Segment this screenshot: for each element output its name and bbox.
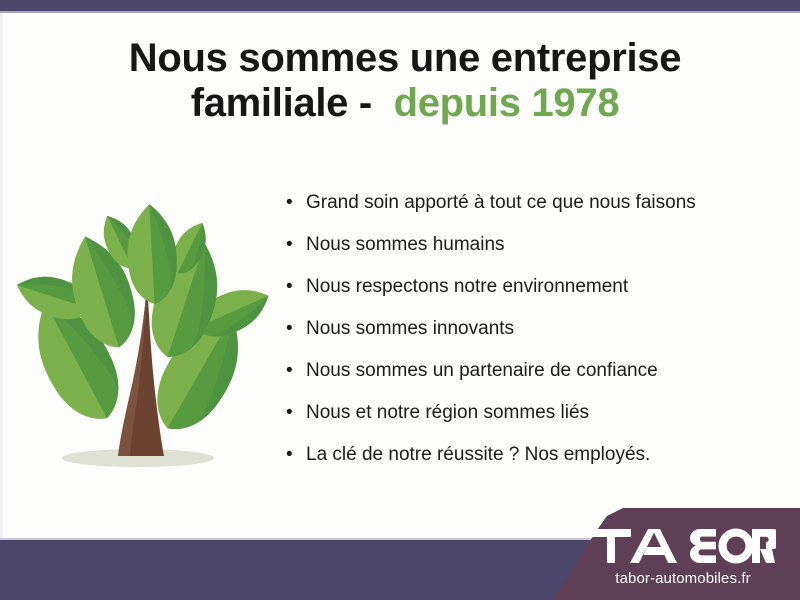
top-decorative-band [0, 0, 800, 11]
slide-title: Nous sommes une entreprise familiale - d… [60, 36, 750, 126]
list-item: • La clé de notre réussite ? Nos employé… [286, 444, 766, 486]
title-line-2: familiale - depuis 1978 [60, 81, 750, 126]
bullet-marker-icon: • [286, 276, 306, 298]
bullet-marker-icon: • [286, 234, 306, 256]
top-band-hairline [0, 11, 800, 13]
list-item-label: Nous et notre région sommes liés [306, 402, 589, 424]
list-item: • Nous sommes un partenaire de confiance [286, 360, 766, 402]
list-item-label: La clé de notre réussite ? Nos employés. [306, 444, 650, 466]
bullet-marker-icon: • [286, 360, 306, 382]
list-item: • Nous et notre région sommes liés [286, 402, 766, 444]
title-line-2-plain: familiale - [191, 81, 372, 125]
list-item: • Grand soin apporté à tout ce que nous … [286, 192, 766, 234]
title-line-1: Nous sommes une entreprise [60, 36, 750, 81]
title-line-2-accent: depuis 1978 [394, 81, 620, 125]
logo-website-url: tabor-automobiles.fr [590, 570, 776, 587]
list-item-label: Nous respectons notre environnement [306, 276, 628, 298]
presentation-slide: Nous sommes une entreprise familiale - d… [0, 0, 800, 600]
list-item: • Nous sommes humains [286, 234, 766, 276]
list-item: • Nous respectons notre environnement [286, 276, 766, 318]
list-item-label: Nous sommes innovants [306, 318, 514, 340]
bullet-marker-icon: • [286, 444, 306, 466]
list-item: • Nous sommes innovants [286, 318, 766, 360]
green-tree-illustration [14, 182, 270, 490]
list-item-label: Grand soin apporté à tout ce que nous fa… [306, 192, 696, 214]
list-item-label: Nous sommes humains [306, 234, 505, 256]
list-item-label: Nous sommes un partenaire de confiance [306, 360, 658, 382]
bullet-list: • Grand soin apporté à tout ce que nous … [286, 192, 766, 486]
left-edge-strip [0, 13, 3, 540]
bullet-marker-icon: • [286, 192, 306, 214]
bullet-marker-icon: • [286, 318, 306, 340]
bullet-marker-icon: • [286, 402, 306, 424]
tabor-logo-wordmark [590, 528, 776, 564]
